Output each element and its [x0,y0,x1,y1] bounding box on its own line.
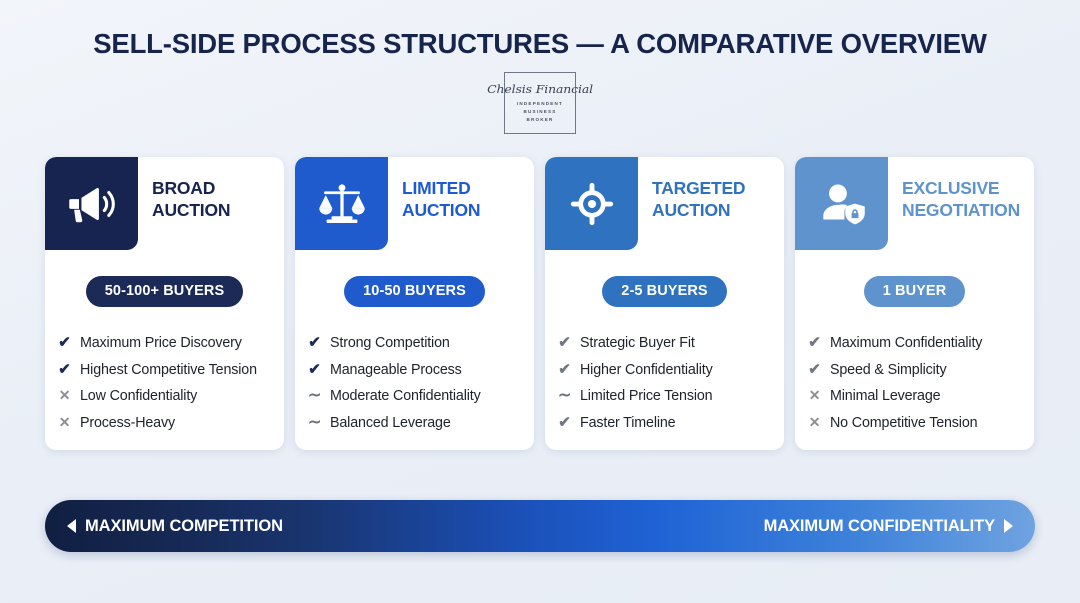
feature-label: Maximum Price Discovery [80,335,242,351]
card-title-line1: TARGETED [652,178,745,198]
feature-label: No Competitive Tension [830,415,977,431]
cross-icon: ✕ [808,388,821,402]
card-header: EXCLUSIVE NEGOTIATION [795,157,1034,250]
tilde-icon: ∼ [558,388,571,404]
spectrum-right-label: MAXIMUM CONFIDENTIALITY [764,517,995,536]
card-title-line1: BROAD [152,178,215,198]
badge-row: 10-50 BUYERS [295,276,534,307]
badge-row: 1 BUYER [795,276,1034,307]
feature-label: Speed & Simplicity [830,362,947,378]
badge-row: 2-5 BUYERS [545,276,784,307]
feature-label: Strong Competition [330,335,450,351]
feature-list: ✔Maximum Price Discovery ✔Highest Compet… [45,330,284,436]
list-item: ∼Limited Price Tension [558,383,772,410]
buyer-count-badge: 1 BUYER [864,276,966,307]
spectrum-right: MAXIMUM CONFIDENTIALITY [764,517,1013,536]
logo-tagline-line1: INDEPENDENT [517,100,563,108]
card-limited-auction: LIMITED AUCTION 10-50 BUYERS ✔Strong Com… [295,157,534,450]
feature-label: Higher Confidentiality [580,362,713,378]
buyer-count-badge: 2-5 BUYERS [602,276,726,307]
list-item: ✕Process-Heavy [58,410,272,437]
triangle-left-icon [67,519,76,533]
logo-tagline-line2: BUSINESS [517,108,563,116]
triangle-right-icon [1004,519,1013,533]
list-item: ✔Strong Competition [308,330,522,357]
feature-label: Low Confidentiality [80,388,197,404]
list-item: ✔Strategic Buyer Fit [558,330,772,357]
list-item: ✔Highest Competitive Tension [58,357,272,384]
target-icon [545,157,638,250]
card-title-line2: AUCTION [652,200,745,222]
buyer-count-badge: 50-100+ BUYERS [86,276,243,307]
scales-icon [295,157,388,250]
list-item: ✕Low Confidentiality [58,383,272,410]
card-title: EXCLUSIVE NEGOTIATION [888,157,1028,221]
list-item: ✔Speed & Simplicity [808,357,1022,384]
card-title-line1: EXCLUSIVE [902,178,999,198]
feature-list: ✔Strategic Buyer Fit ✔Higher Confidentia… [545,330,784,436]
check-icon: ✔ [308,335,321,350]
card-title-line2: AUCTION [402,200,480,222]
feature-label: Maximum Confidentiality [830,335,982,351]
user-lock-icon [795,157,888,250]
tilde-icon: ∼ [308,388,321,404]
card-header: BROAD AUCTION [45,157,284,250]
feature-label: Strategic Buyer Fit [580,335,695,351]
comparison-cards: BROAD AUCTION 50-100+ BUYERS ✔Maximum Pr… [45,157,1035,450]
feature-list: ✔Strong Competition ✔Manageable Process … [295,330,534,436]
logo-wordmark: Chelsis Financial [487,82,593,96]
buyer-count-badge: 10-50 BUYERS [344,276,485,307]
cross-icon: ✕ [808,415,821,429]
card-title-line2: AUCTION [152,200,230,222]
logo-tagline-line3: BROKER [517,116,563,124]
cross-icon: ✕ [58,415,71,429]
list-item: ✕Minimal Leverage [808,383,1022,410]
card-title: LIMITED AUCTION [388,157,488,221]
megaphone-icon [45,157,138,250]
card-title-line2: NEGOTIATION [902,200,1020,222]
card-exclusive-negotiation: EXCLUSIVE NEGOTIATION 1 BUYER ✔Maximum C… [795,157,1034,450]
list-item: ✔Higher Confidentiality [558,357,772,384]
feature-label: Manageable Process [330,362,462,378]
feature-label: Process-Heavy [80,415,175,431]
list-item: ∼Balanced Leverage [308,410,522,437]
spectrum-left-label: MAXIMUM COMPETITION [85,517,283,536]
cross-icon: ✕ [58,388,71,402]
feature-label: Minimal Leverage [830,388,940,404]
brand-logo: Chelsis Financial INDEPENDENT BUSINESS B… [0,72,1080,134]
feature-label: Moderate Confidentiality [330,388,481,404]
card-header: TARGETED AUCTION [545,157,784,250]
card-targeted-auction: TARGETED AUCTION 2-5 BUYERS ✔Strategic B… [545,157,784,450]
feature-label: Limited Price Tension [580,388,712,404]
check-icon: ✔ [808,362,821,377]
list-item: ∼Moderate Confidentiality [308,383,522,410]
tilde-icon: ∼ [308,415,321,431]
list-item: ✕No Competitive Tension [808,410,1022,437]
feature-label: Highest Competitive Tension [80,362,257,378]
spectrum-bar: MAXIMUM COMPETITION MAXIMUM CONFIDENTIAL… [45,500,1035,552]
feature-label: Balanced Leverage [330,415,451,431]
feature-label: Faster Timeline [580,415,675,431]
card-title-line1: LIMITED [402,178,471,198]
list-item: ✔Maximum Price Discovery [58,330,272,357]
logo-tagline: INDEPENDENT BUSINESS BROKER [517,100,563,124]
list-item: ✔Faster Timeline [558,410,772,437]
card-title: TARGETED AUCTION [638,157,753,221]
list-item: ✔Manageable Process [308,357,522,384]
check-icon: ✔ [558,362,571,377]
check-icon: ✔ [58,362,71,377]
spectrum-left: MAXIMUM COMPETITION [67,517,283,536]
infographic-page: SELL-SIDE PROCESS STRUCTURES — A COMPARA… [0,0,1080,603]
check-icon: ✔ [558,415,571,430]
check-icon: ✔ [558,335,571,350]
check-icon: ✔ [808,335,821,350]
card-header: LIMITED AUCTION [295,157,534,250]
card-title: BROAD AUCTION [138,157,238,221]
check-icon: ✔ [58,335,71,350]
badge-row: 50-100+ BUYERS [45,276,284,307]
page-title: SELL-SIDE PROCESS STRUCTURES — A COMPARA… [0,0,1080,60]
list-item: ✔Maximum Confidentiality [808,330,1022,357]
card-broad-auction: BROAD AUCTION 50-100+ BUYERS ✔Maximum Pr… [45,157,284,450]
logo-frame: Chelsis Financial INDEPENDENT BUSINESS B… [504,72,576,134]
check-icon: ✔ [308,362,321,377]
feature-list: ✔Maximum Confidentiality ✔Speed & Simpli… [795,330,1034,436]
